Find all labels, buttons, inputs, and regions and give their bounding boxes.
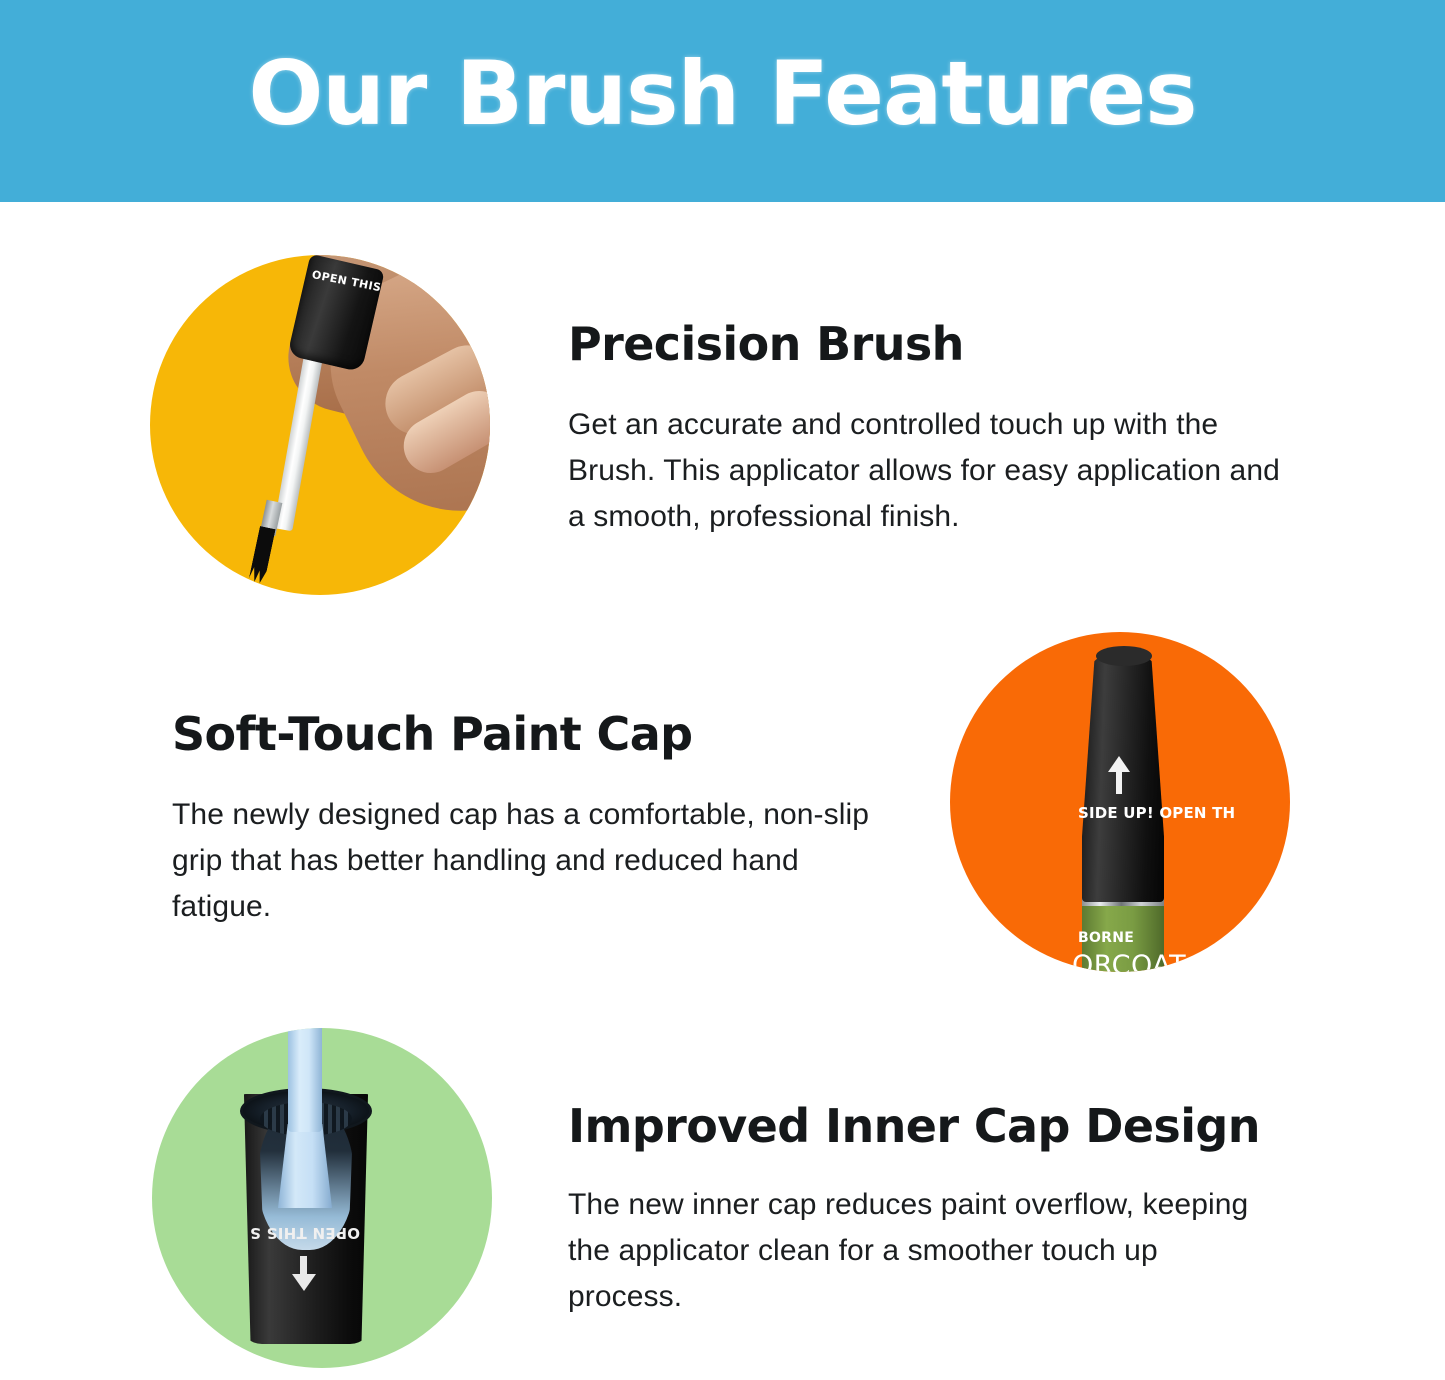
up-arrow-icon [1108, 756, 1130, 772]
precision-brush-photo: OPEN THIS [150, 255, 490, 595]
improved-inner-cap-image-wrap: OPEN THIS S [152, 1028, 492, 1368]
cap-label-text: OPEN THIS [311, 268, 388, 295]
feature-body-precision-brush: Get an accurate and controlled touch up … [568, 402, 1294, 540]
improved-inner-cap-photo: OPEN THIS S [152, 1028, 492, 1368]
feature-row-precision-brush: OPEN THIS Precision Brush Get an accurat… [0, 0, 1445, 400]
precision-brush-image-wrap: OPEN THIS [150, 255, 490, 595]
bottle-label-line1: BORNE [1078, 930, 1198, 946]
feature-title-soft-touch-paint-cap: Soft-Touch Paint Cap [172, 708, 912, 760]
cap-label-text: OPEN THIS S [256, 1224, 360, 1242]
soft-touch-paint-cap-photo: SIDE UP! OPEN TH BORNE ORCOAT [950, 632, 1290, 972]
precision-brush-text-block: Precision Brush Get an accurate and cont… [568, 318, 1308, 540]
soft-touch-cap-text-block: Soft-Touch Paint Cap The newly designed … [172, 708, 912, 930]
applicator-stem-upper [288, 1028, 322, 1132]
improved-inner-cap-text-block: Improved Inner Cap Design The new inner … [568, 1100, 1308, 1320]
feature-title-precision-brush: Precision Brush [568, 318, 1308, 370]
infographic-page: Our Brush Features OPEN THIS Precision B… [0, 0, 1445, 1380]
brush-bristles [248, 526, 275, 584]
soft-touch-cap-image-wrap: SIDE UP! OPEN TH BORNE ORCOAT [950, 632, 1290, 972]
cap-top-ellipse [1096, 646, 1152, 666]
feature-body-soft-touch-paint-cap: The newly designed cap has a comfortable… [172, 792, 898, 930]
down-arrow-icon [292, 1274, 316, 1291]
feature-title-improved-inner-cap: Improved Inner Cap Design [568, 1100, 1308, 1152]
soft-touch-cap [1082, 650, 1164, 902]
cap-label-text: SIDE UP! OPEN TH [1078, 804, 1238, 822]
feature-body-improved-inner-cap: The new inner cap reduces paint overflow… [568, 1182, 1268, 1320]
bottle-label-line2: ORCOAT [1072, 950, 1212, 972]
up-arrow-stem-icon [1116, 772, 1122, 794]
